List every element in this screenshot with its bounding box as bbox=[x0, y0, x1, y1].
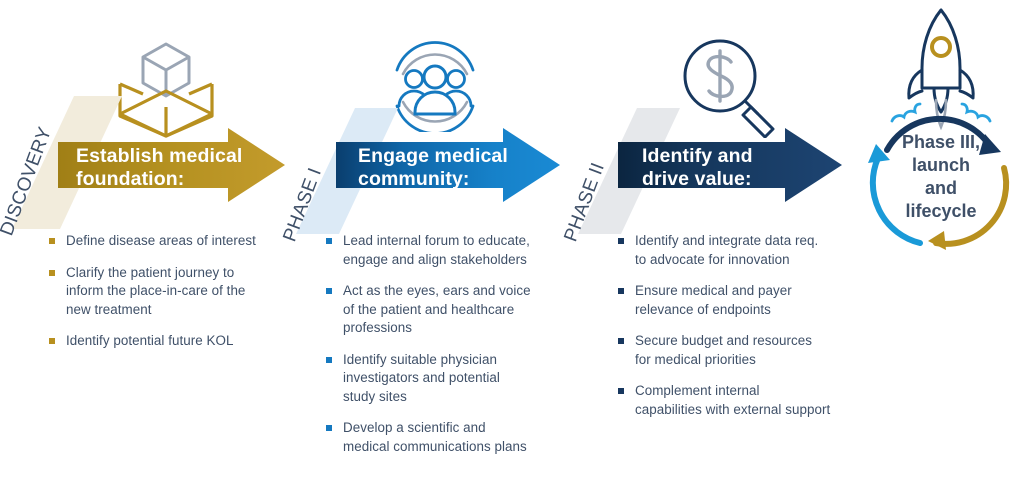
list-item: Clarify the patient journey to inform th… bbox=[49, 264, 295, 320]
arrow-title-phase-2: Identify and drive value: bbox=[642, 145, 753, 191]
phase-column-phase-2: PHASE II Identify and drive value: Ident… bbox=[570, 0, 860, 482]
arrow-discovery: Establish medical foundation: bbox=[58, 128, 285, 202]
list-item: Develop a scientific and medical communi… bbox=[326, 419, 561, 456]
people-group-icon bbox=[389, 40, 481, 132]
list-item: Define disease areas of interest bbox=[49, 232, 295, 251]
list-item: Identify and integrate data req. to advo… bbox=[618, 232, 863, 269]
list-item: Act as the eyes, ears and voice of the p… bbox=[326, 282, 561, 338]
list-item: Ensure medical and payer relevance of en… bbox=[618, 282, 863, 319]
phase-3-label: Phase III, launch and lifecycle bbox=[878, 131, 1004, 223]
magnifier-dollar-icon bbox=[680, 34, 778, 138]
arrow-phase-1: Engage medical community: bbox=[336, 128, 560, 202]
cycle-arrowhead-gold bbox=[928, 231, 946, 250]
bullet-list-phase-2: Identify and integrate data req. to advo… bbox=[618, 232, 863, 432]
rocket-launch-icon bbox=[909, 10, 973, 112]
list-item: Identify potential future KOL bbox=[49, 332, 295, 351]
bullet-list-phase-1: Lead internal forum to educate, engage a… bbox=[326, 232, 561, 469]
diagram-canvas: DISCOVERY Establish medical foundation: … bbox=[0, 0, 1024, 482]
arrow-title-phase-1: Engage medical community: bbox=[358, 145, 508, 191]
arrow-title-discovery: Establish medical foundation: bbox=[76, 145, 242, 191]
bullet-list-discovery: Define disease areas of interest Clarify… bbox=[49, 232, 295, 364]
list-item: Complement internal capabilities with ex… bbox=[618, 382, 863, 419]
list-item: Secure budget and resources for medical … bbox=[618, 332, 863, 369]
phase-column-discovery: DISCOVERY Establish medical foundation: … bbox=[0, 0, 300, 482]
arrow-phase-2: Identify and drive value: bbox=[618, 128, 842, 202]
phase-column-phase-1: PHASE I Engage medical community: Lead i… bbox=[288, 0, 578, 482]
open-box-cube-icon bbox=[113, 28, 219, 140]
list-item: Identify suitable physician investigator… bbox=[326, 351, 561, 407]
list-item: Lead internal forum to educate, engage a… bbox=[326, 232, 561, 269]
